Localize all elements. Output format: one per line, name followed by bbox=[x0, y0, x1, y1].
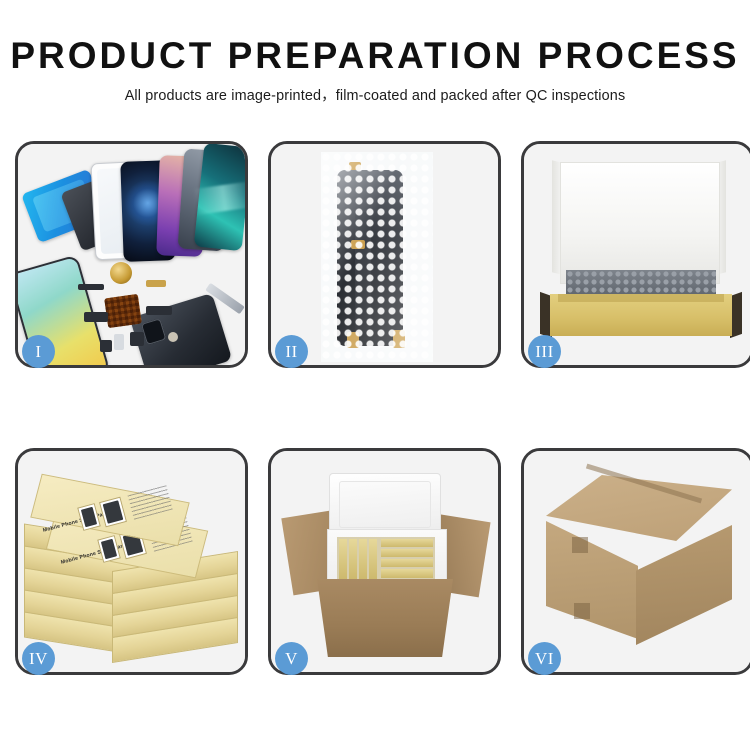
carton-body bbox=[317, 579, 453, 657]
step-badge-1: I bbox=[22, 335, 55, 368]
camera-module-part bbox=[110, 262, 132, 284]
process-step-6: VI bbox=[521, 448, 750, 675]
step-5-image bbox=[271, 451, 498, 672]
vibrator-part bbox=[100, 340, 112, 352]
film-sheen bbox=[321, 152, 433, 362]
sim-tray-part bbox=[114, 334, 124, 350]
process-step-3: III bbox=[521, 141, 750, 368]
connector-part bbox=[146, 280, 166, 287]
box-base-shadow bbox=[558, 294, 724, 302]
step-badge-3: III bbox=[528, 335, 561, 368]
packed-boxes-area bbox=[337, 537, 435, 581]
box-white-lid bbox=[560, 162, 720, 284]
page-title: PRODUCT PREPARATION PROCESS bbox=[0, 34, 750, 78]
logic-board-part bbox=[104, 294, 142, 328]
page-subtitle: All products are image-printed，film-coat… bbox=[0, 87, 750, 105]
step-badge-4: IV bbox=[22, 642, 55, 675]
step-badge-6: VI bbox=[528, 642, 561, 675]
box-stack: Mobile Phone Spare Parts Mobile Phone Sp… bbox=[24, 475, 244, 659]
process-step-2: II bbox=[268, 141, 501, 368]
styrofoam-lid bbox=[329, 473, 441, 537]
process-step-1: I bbox=[15, 141, 248, 368]
flex-cable-part bbox=[78, 284, 104, 290]
header: PRODUCT PREPARATION PROCESS All products… bbox=[0, 34, 750, 105]
process-step-grid: I II bbox=[15, 141, 735, 675]
antenna-flex-part bbox=[146, 306, 172, 315]
bubble-wrap-package bbox=[321, 152, 433, 362]
screw-part bbox=[168, 332, 178, 342]
phone-back-housing bbox=[130, 293, 233, 365]
step-3-image bbox=[524, 144, 750, 365]
process-step-4: Mobile Phone Spare Parts Mobile Phone Sp… bbox=[15, 448, 248, 675]
carton-tape-lower bbox=[574, 603, 590, 619]
step-badge-5: V bbox=[275, 642, 308, 675]
carton-tape-upper bbox=[572, 537, 588, 553]
process-step-5: V bbox=[268, 448, 501, 675]
step-6-image bbox=[524, 451, 750, 672]
carton-front-face bbox=[546, 521, 638, 639]
step-2-image bbox=[271, 144, 498, 365]
step-4-image: Mobile Phone Spare Parts Mobile Phone Sp… bbox=[18, 451, 245, 672]
product-preparation-infographic: PRODUCT PREPARATION PROCESS All products… bbox=[0, 0, 750, 750]
carton-side-face bbox=[636, 525, 732, 645]
step-1-image bbox=[18, 144, 245, 365]
speaker-part bbox=[130, 332, 144, 346]
step-badge-2: II bbox=[275, 335, 308, 368]
button-flex-part bbox=[84, 312, 108, 322]
